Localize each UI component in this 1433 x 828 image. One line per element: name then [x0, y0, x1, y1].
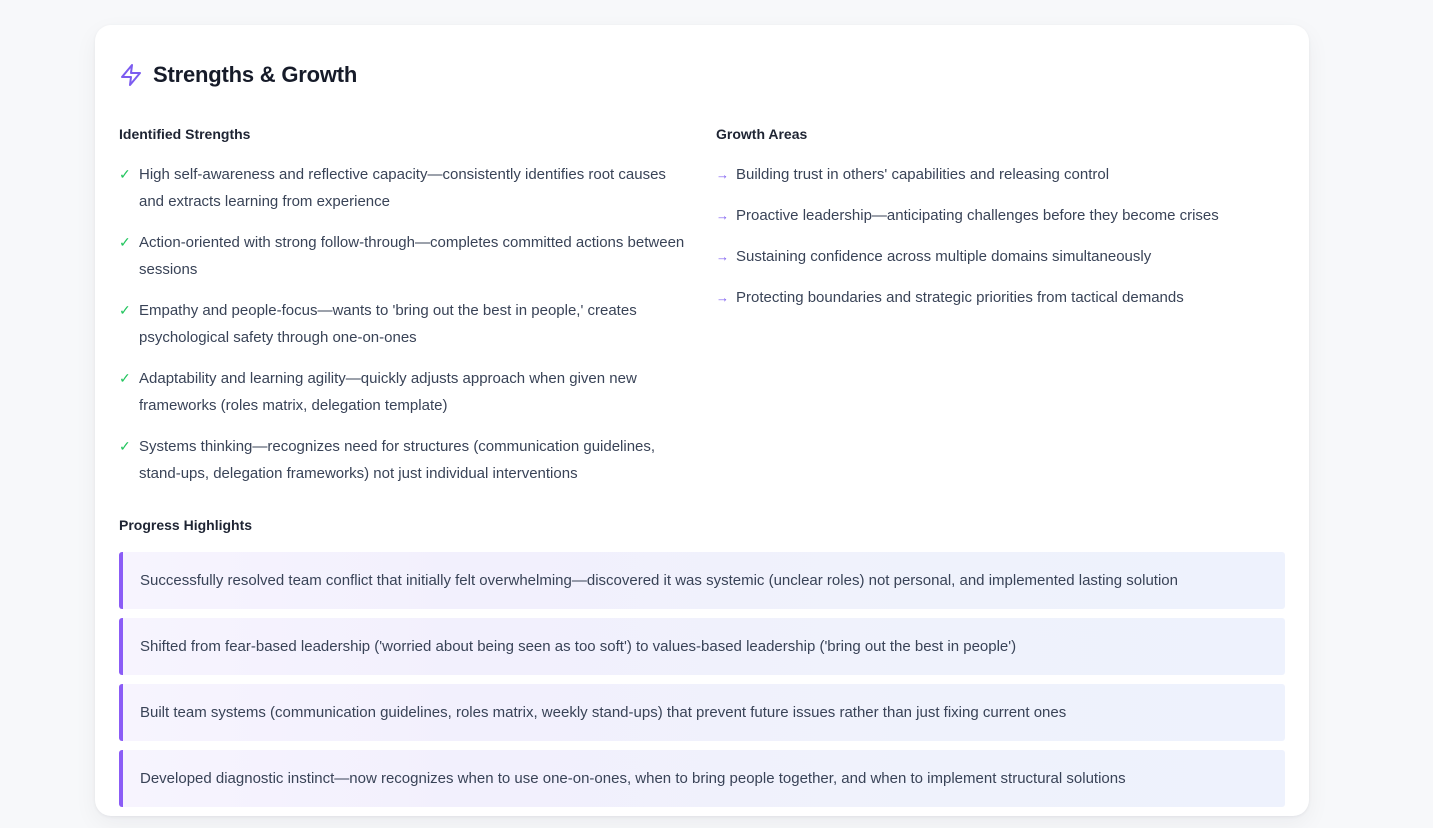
highlight-card: Built team systems (communication guidel…	[119, 684, 1285, 741]
list-item: → Proactive leadership—anticipating chal…	[716, 202, 1285, 229]
two-column-section: Identified Strengths ✓ High self-awarene…	[119, 126, 1285, 487]
growth-areas-list: → Building trust in others' capabilities…	[716, 161, 1285, 311]
highlight-text: Shifted from fear-based leadership ('wor…	[140, 633, 1267, 660]
identified-strengths-list: ✓ High self-awareness and reflective cap…	[119, 161, 688, 487]
strength-text: Systems thinking—recognizes need for str…	[139, 433, 688, 487]
growth-text: Protecting boundaries and strategic prio…	[736, 284, 1184, 311]
list-item: ✓ Adaptability and learning agility—quic…	[119, 365, 688, 419]
progress-highlights-section: Progress Highlights Successfully resolve…	[119, 517, 1285, 807]
card-header: Strengths & Growth	[119, 49, 1285, 100]
list-item: → Sustaining confidence across multiple …	[716, 243, 1285, 270]
check-icon: ✓	[119, 161, 130, 188]
list-item: → Protecting boundaries and strategic pr…	[716, 284, 1285, 311]
highlight-card: Developed diagnostic instinct—now recogn…	[119, 750, 1285, 807]
highlight-text: Successfully resolved team conflict that…	[140, 567, 1267, 594]
page-title: Strengths & Growth	[153, 64, 357, 86]
highlight-card: Shifted from fear-based leadership ('wor…	[119, 618, 1285, 675]
check-icon: ✓	[119, 229, 130, 256]
progress-highlights-heading: Progress Highlights	[119, 517, 1285, 534]
highlight-card: Successfully resolved team conflict that…	[119, 552, 1285, 609]
growth-areas-column: Growth Areas → Building trust in others'…	[716, 126, 1285, 311]
highlight-text: Developed diagnostic instinct—now recogn…	[140, 765, 1267, 792]
list-item: → Building trust in others' capabilities…	[716, 161, 1285, 188]
growth-text: Sustaining confidence across multiple do…	[736, 243, 1151, 270]
list-item: ✓ Systems thinking—recognizes need for s…	[119, 433, 688, 487]
growth-text: Proactive leadership—anticipating challe…	[736, 202, 1219, 229]
list-item: ✓ Empathy and people-focus—wants to 'bri…	[119, 297, 688, 351]
identified-strengths-column: Identified Strengths ✓ High self-awarene…	[119, 126, 688, 487]
strength-text: Adaptability and learning agility—quickl…	[139, 365, 688, 419]
page-root: Strengths & Growth Identified Strengths …	[0, 0, 1433, 828]
arrow-right-icon: →	[716, 243, 727, 270]
check-icon: ✓	[119, 433, 130, 460]
identified-strengths-heading: Identified Strengths	[119, 126, 688, 143]
zap-icon	[119, 63, 143, 87]
strength-text: Empathy and people-focus—wants to 'bring…	[139, 297, 688, 351]
list-item: ✓ High self-awareness and reflective cap…	[119, 161, 688, 215]
list-item: ✓ Action-oriented with strong follow-thr…	[119, 229, 688, 283]
growth-areas-heading: Growth Areas	[716, 126, 1285, 143]
arrow-right-icon: →	[716, 202, 727, 229]
strength-text: High self-awareness and reflective capac…	[139, 161, 688, 215]
growth-text: Building trust in others' capabilities a…	[736, 161, 1109, 188]
check-icon: ✓	[119, 297, 130, 324]
check-icon: ✓	[119, 365, 130, 392]
arrow-right-icon: →	[716, 284, 727, 311]
arrow-right-icon: →	[716, 161, 727, 188]
strength-text: Action-oriented with strong follow-throu…	[139, 229, 688, 283]
highlight-text: Built team systems (communication guidel…	[140, 699, 1267, 726]
strengths-growth-card: Strengths & Growth Identified Strengths …	[95, 25, 1309, 816]
